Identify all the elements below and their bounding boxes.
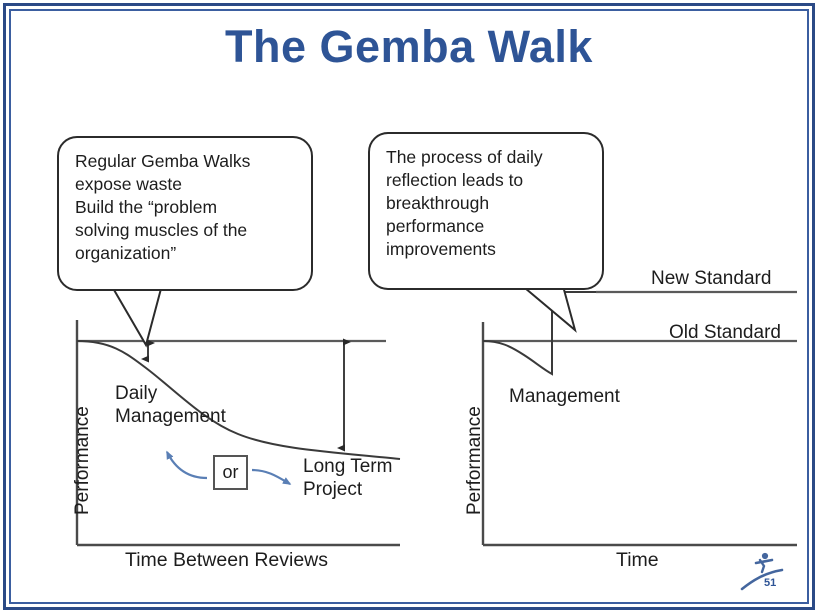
page-number: 51 — [764, 577, 776, 589]
or-arrow-left — [167, 452, 207, 478]
or-arrow-right — [252, 470, 290, 484]
annotation-vector-layer — [0, 0, 818, 613]
slide-canvas: The Gemba Walk Regular Gemba Walks expos… — [0, 0, 818, 613]
